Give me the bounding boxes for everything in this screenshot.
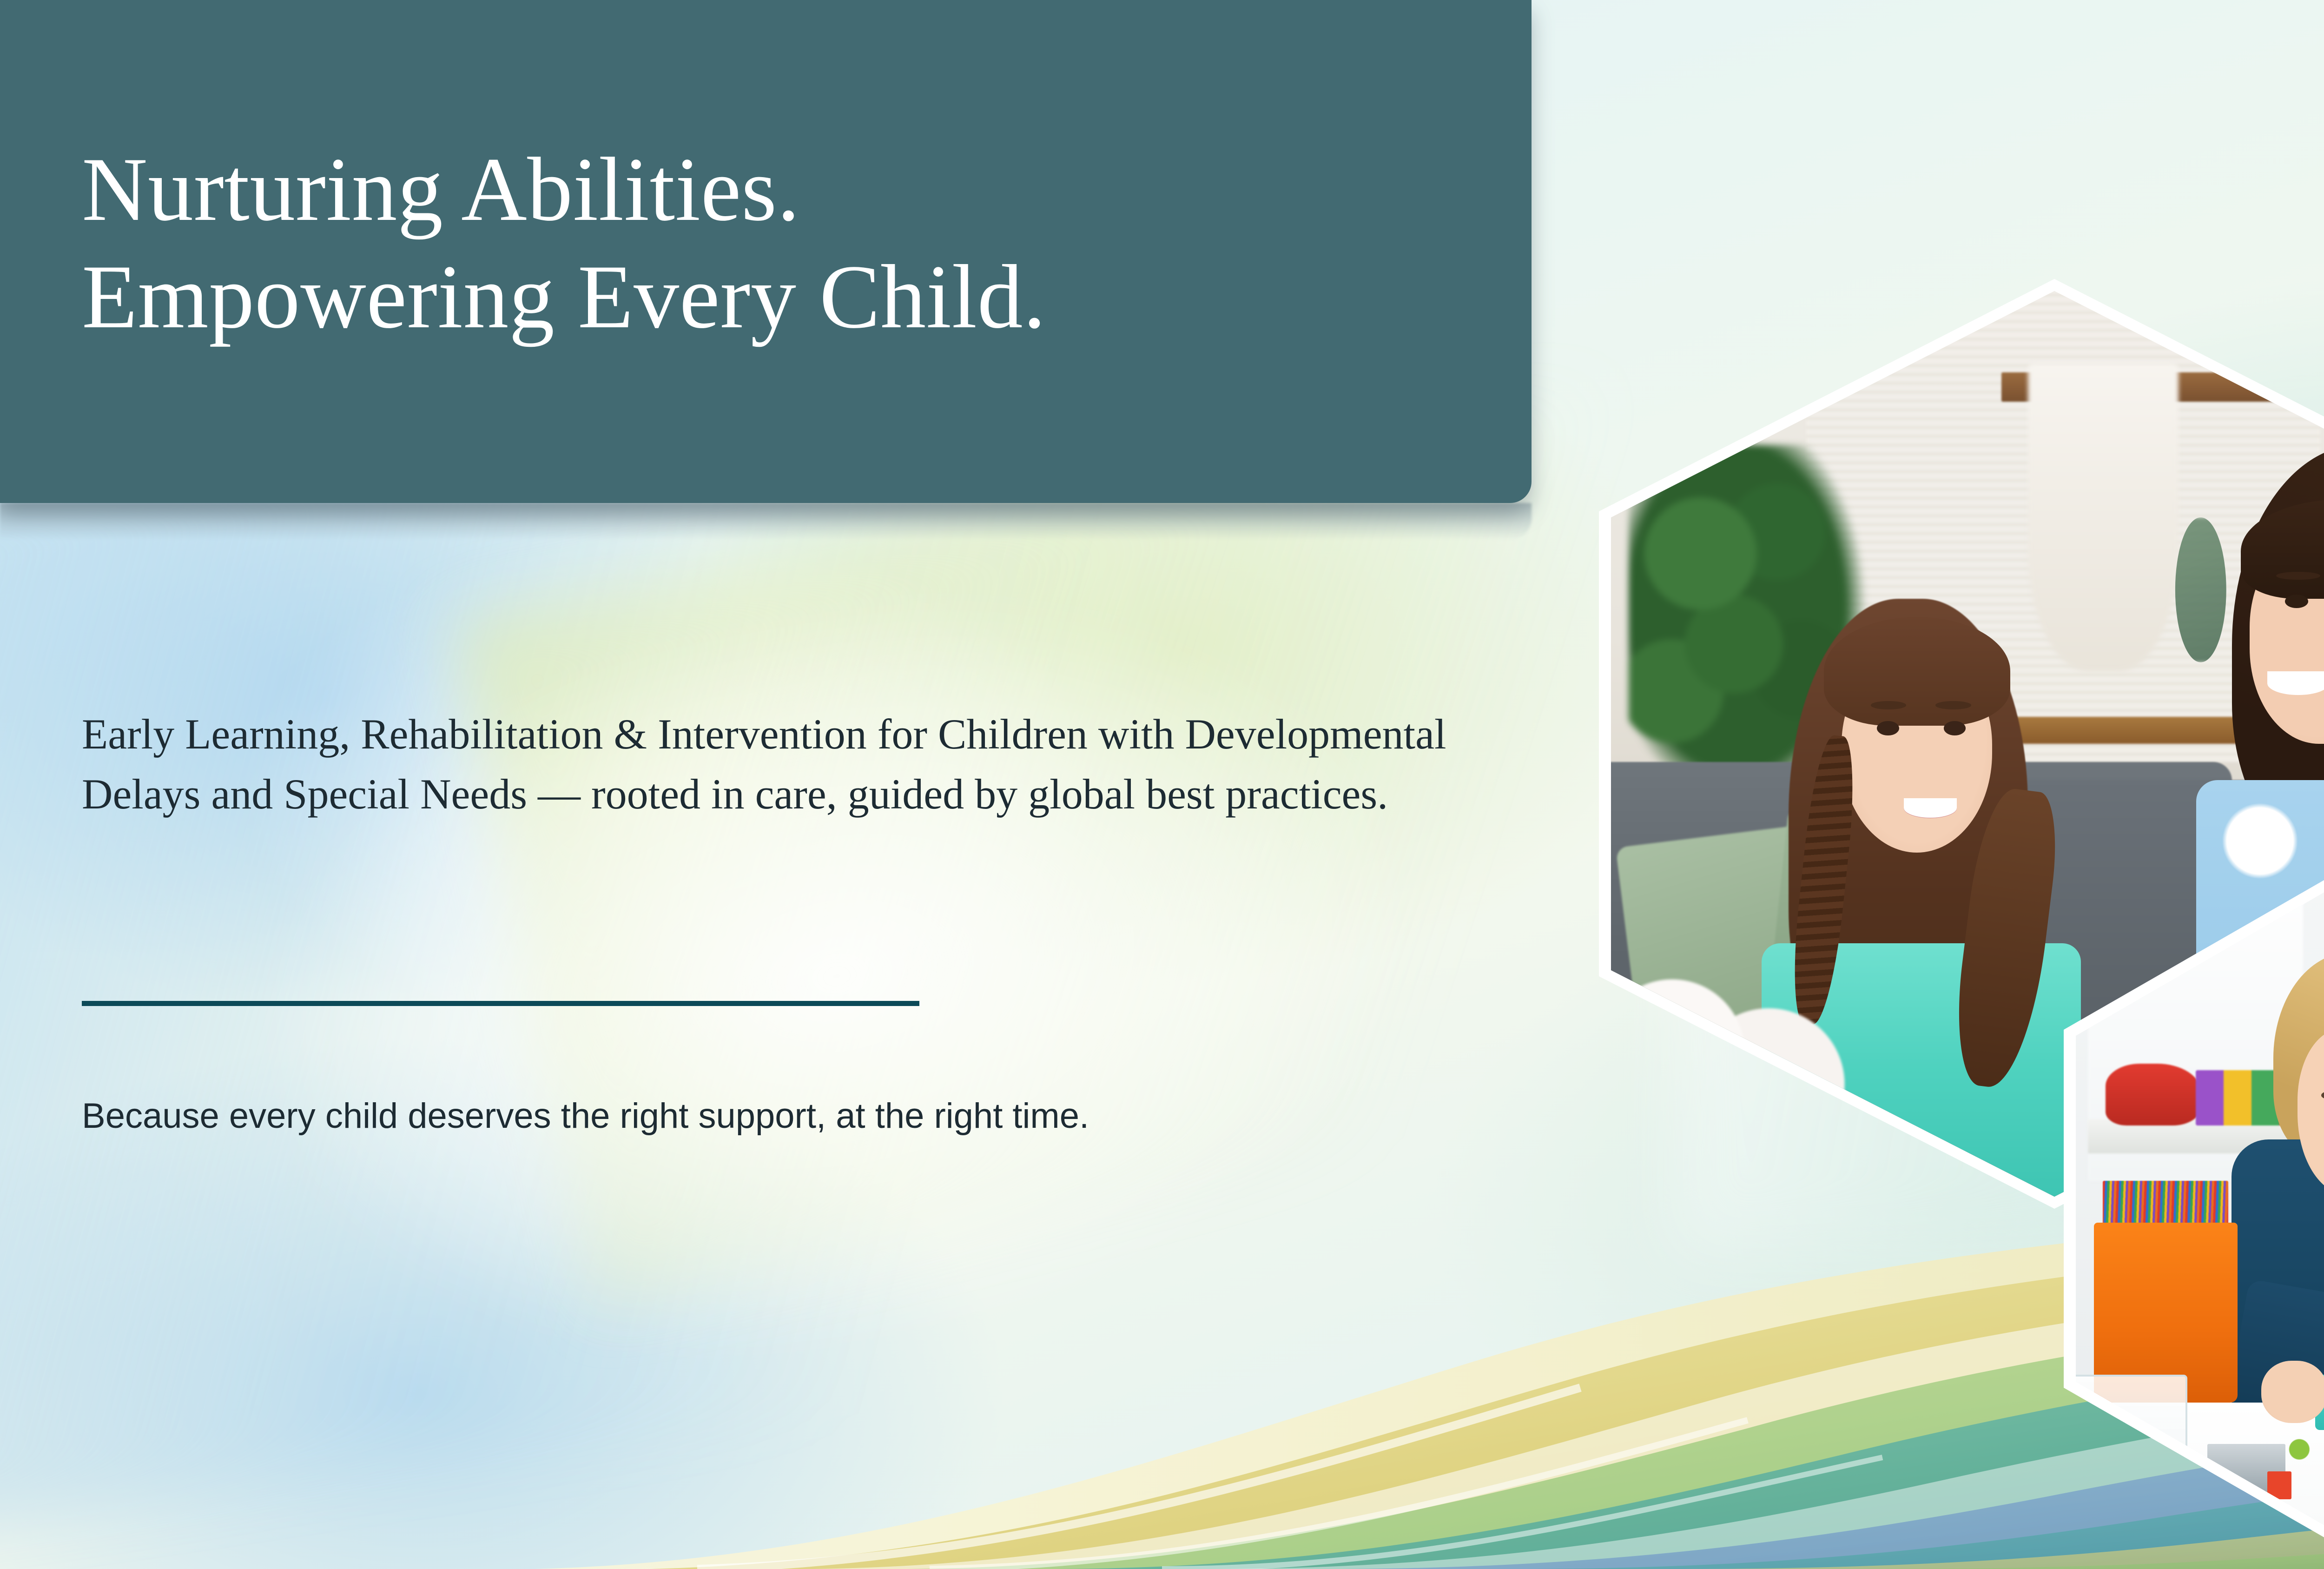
header-drop-shadow [0,503,1532,540]
section-divider [82,1001,919,1006]
kicker-text: Because every child deserves the right s… [82,1092,1569,1140]
page-title: Nurturing Abilities. Empowering Every Ch… [82,136,1430,351]
header-panel: Nurturing Abilities. Empowering Every Ch… [0,0,1532,503]
lede-paragraph: Early Learning, Rehabilitation & Interve… [82,704,1560,824]
hero-banner: Nurturing Abilities. Empowering Every Ch… [0,0,2324,1569]
